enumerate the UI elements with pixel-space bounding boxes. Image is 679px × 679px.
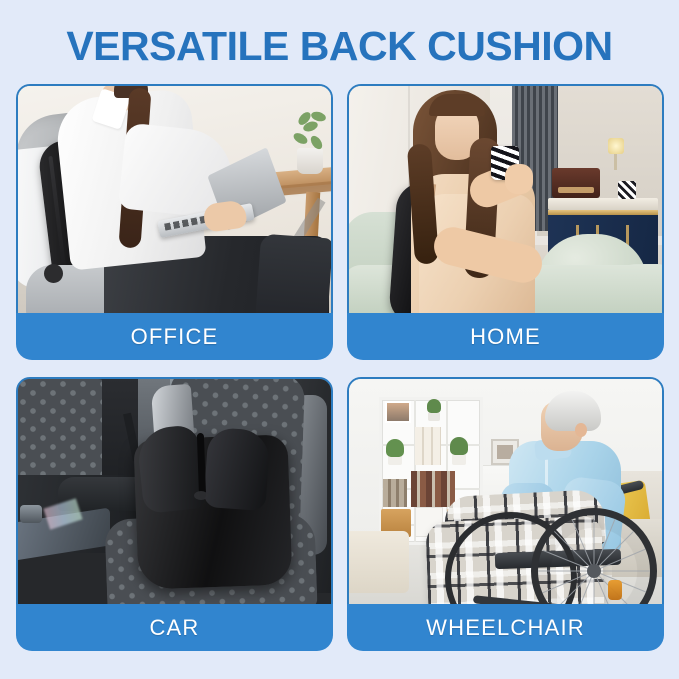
cushion-lobe-right bbox=[203, 427, 270, 511]
label-car: CAR bbox=[16, 604, 333, 651]
shelf-mug bbox=[618, 181, 636, 199]
home-person-hair-front bbox=[429, 94, 485, 116]
wheelchair-reflector bbox=[608, 580, 622, 600]
shelf-plant-right bbox=[449, 437, 469, 465]
scene-car bbox=[18, 379, 331, 604]
home-sideboard-top bbox=[548, 198, 658, 210]
scene-home bbox=[349, 86, 662, 313]
shelf-plant-left bbox=[385, 439, 405, 465]
car-gear-shifter bbox=[20, 505, 42, 523]
use-case-grid: OFFICE bbox=[0, 0, 679, 679]
shelf-books-secondary bbox=[383, 479, 407, 507]
room-ottoman bbox=[347, 531, 409, 593]
office-chair-knob bbox=[44, 264, 63, 283]
plant-leaves-icon bbox=[291, 108, 325, 154]
scene-office bbox=[18, 86, 331, 313]
shelf-binders bbox=[415, 427, 441, 465]
photo-wheelchair bbox=[347, 377, 664, 606]
label-office: OFFICE bbox=[16, 313, 333, 360]
wheelchair-person-ear bbox=[575, 423, 587, 437]
label-home: HOME bbox=[347, 313, 664, 360]
photo-home bbox=[347, 84, 664, 315]
shelf-books bbox=[411, 471, 455, 507]
vintage-radio bbox=[552, 168, 600, 198]
office-person-shin bbox=[255, 234, 333, 315]
photo-car bbox=[16, 377, 333, 606]
use-case-card-car[interactable]: CAR bbox=[16, 377, 333, 653]
photo-office bbox=[16, 84, 333, 315]
shelf-plant-top bbox=[425, 399, 443, 421]
use-case-card-office[interactable]: OFFICE bbox=[16, 84, 333, 360]
use-case-card-home[interactable]: HOME bbox=[347, 84, 664, 360]
candle-lamp-icon bbox=[606, 138, 626, 174]
use-case-card-wheelchair[interactable]: WHEELCHAIR bbox=[347, 377, 664, 653]
home-person-hand bbox=[505, 164, 533, 194]
cushion-button bbox=[194, 491, 208, 500]
shelf-photo-frame bbox=[385, 401, 411, 423]
label-wheelchair: WHEELCHAIR bbox=[347, 604, 664, 651]
scene-wheelchair bbox=[349, 379, 662, 604]
cushion-lobe-left bbox=[136, 424, 206, 514]
